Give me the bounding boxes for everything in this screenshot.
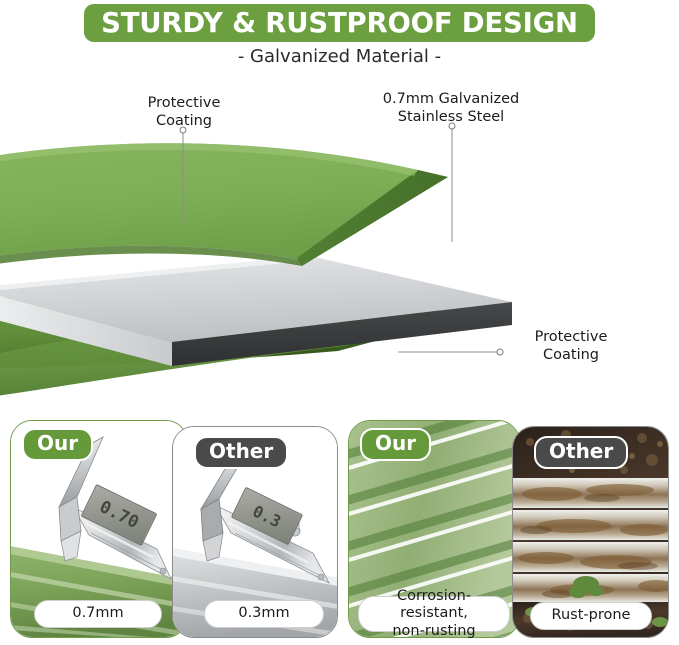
- label-galvanized-steel: 0.7mm Galvanized Stainless Steel: [376, 91, 526, 126]
- header-subtitle: - Galvanized Material -: [0, 46, 679, 67]
- badge-other-thickness: Other: [194, 436, 288, 469]
- infographic-root: STURDY & RUSTPROOF DESIGN - Galvanized M…: [0, 0, 679, 645]
- header-banner: STURDY & RUSTPROOF DESIGN: [84, 4, 595, 42]
- diagram-layer-top-coating: [0, 143, 448, 268]
- label-bottom-protective-coating: Protective Coating: [516, 329, 626, 364]
- badge-other-corrosion: Other: [534, 436, 628, 469]
- caption-our-thickness: 0.7mm: [34, 600, 162, 628]
- label-top-protective-coating: Protective Coating: [138, 95, 230, 130]
- caption-other-corrosion: Rust-prone: [530, 602, 652, 630]
- badge-our-corrosion: Our: [360, 428, 431, 461]
- caption-our-corrosion: Corrosion-resistant, non-rusting: [358, 596, 510, 632]
- caption-other-thickness: 0.3mm: [204, 600, 324, 628]
- page-title: STURDY & RUSTPROOF DESIGN: [101, 7, 578, 39]
- badge-our-thickness: Our: [22, 428, 93, 461]
